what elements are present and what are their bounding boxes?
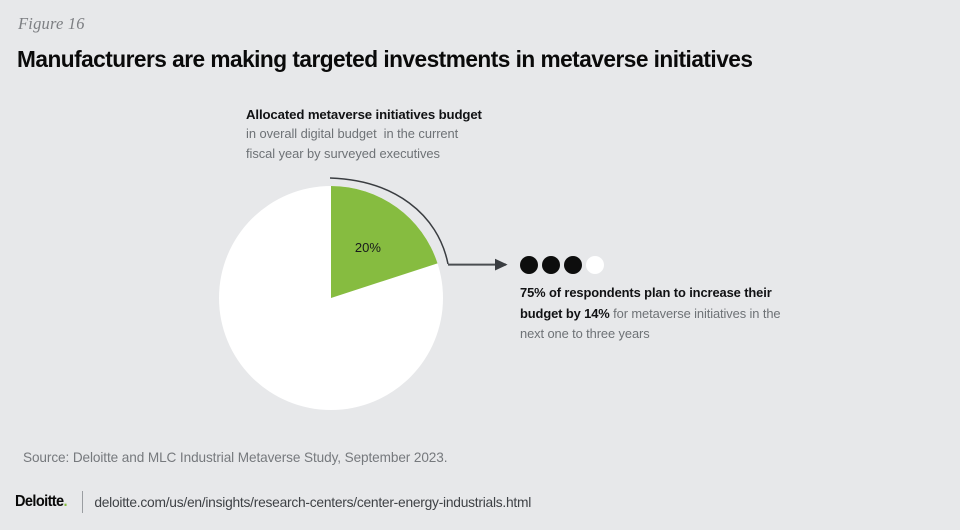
callout-text: 75% of respondents plan to increase thei…	[520, 283, 788, 345]
figure-label: Figure 16	[18, 14, 85, 34]
dot-filled-icon	[520, 256, 538, 274]
pie-slice-value-label: 20%	[355, 240, 381, 255]
chart-heading-subtitle-line-1: in overall digital budget in the current	[246, 124, 546, 144]
dot-filled-icon	[564, 256, 582, 274]
deloitte-logo-dot: .	[64, 493, 67, 510]
footer: Deloitte. deloitte.com/us/en/insights/re…	[15, 490, 531, 514]
deloitte-logo: Deloitte.	[15, 493, 67, 511]
chart-heading-subtitle-line-2: fiscal year by surveyed executives	[246, 144, 546, 164]
dot-empty-icon	[586, 256, 604, 274]
footer-url: deloitte.com/us/en/insights/research-cen…	[94, 495, 531, 510]
dot-filled-icon	[542, 256, 560, 274]
chart-heading-title: Allocated metaverse initiatives budget	[246, 106, 546, 124]
source-note: Source: Deloitte and MLC Industrial Meta…	[23, 450, 447, 465]
chart-heading: Allocated metaverse initiatives budget i…	[246, 106, 546, 163]
figure-container: Figure 16 Manufacturers are making targe…	[0, 0, 960, 530]
page-title: Manufacturers are making targeted invest…	[17, 46, 752, 73]
dot-indicator	[520, 256, 604, 274]
footer-divider	[82, 491, 83, 513]
pie-chart-svg: 20%	[219, 186, 443, 410]
deloitte-logo-text: Deloitte	[15, 493, 64, 510]
pie-chart: 20%	[219, 186, 443, 410]
